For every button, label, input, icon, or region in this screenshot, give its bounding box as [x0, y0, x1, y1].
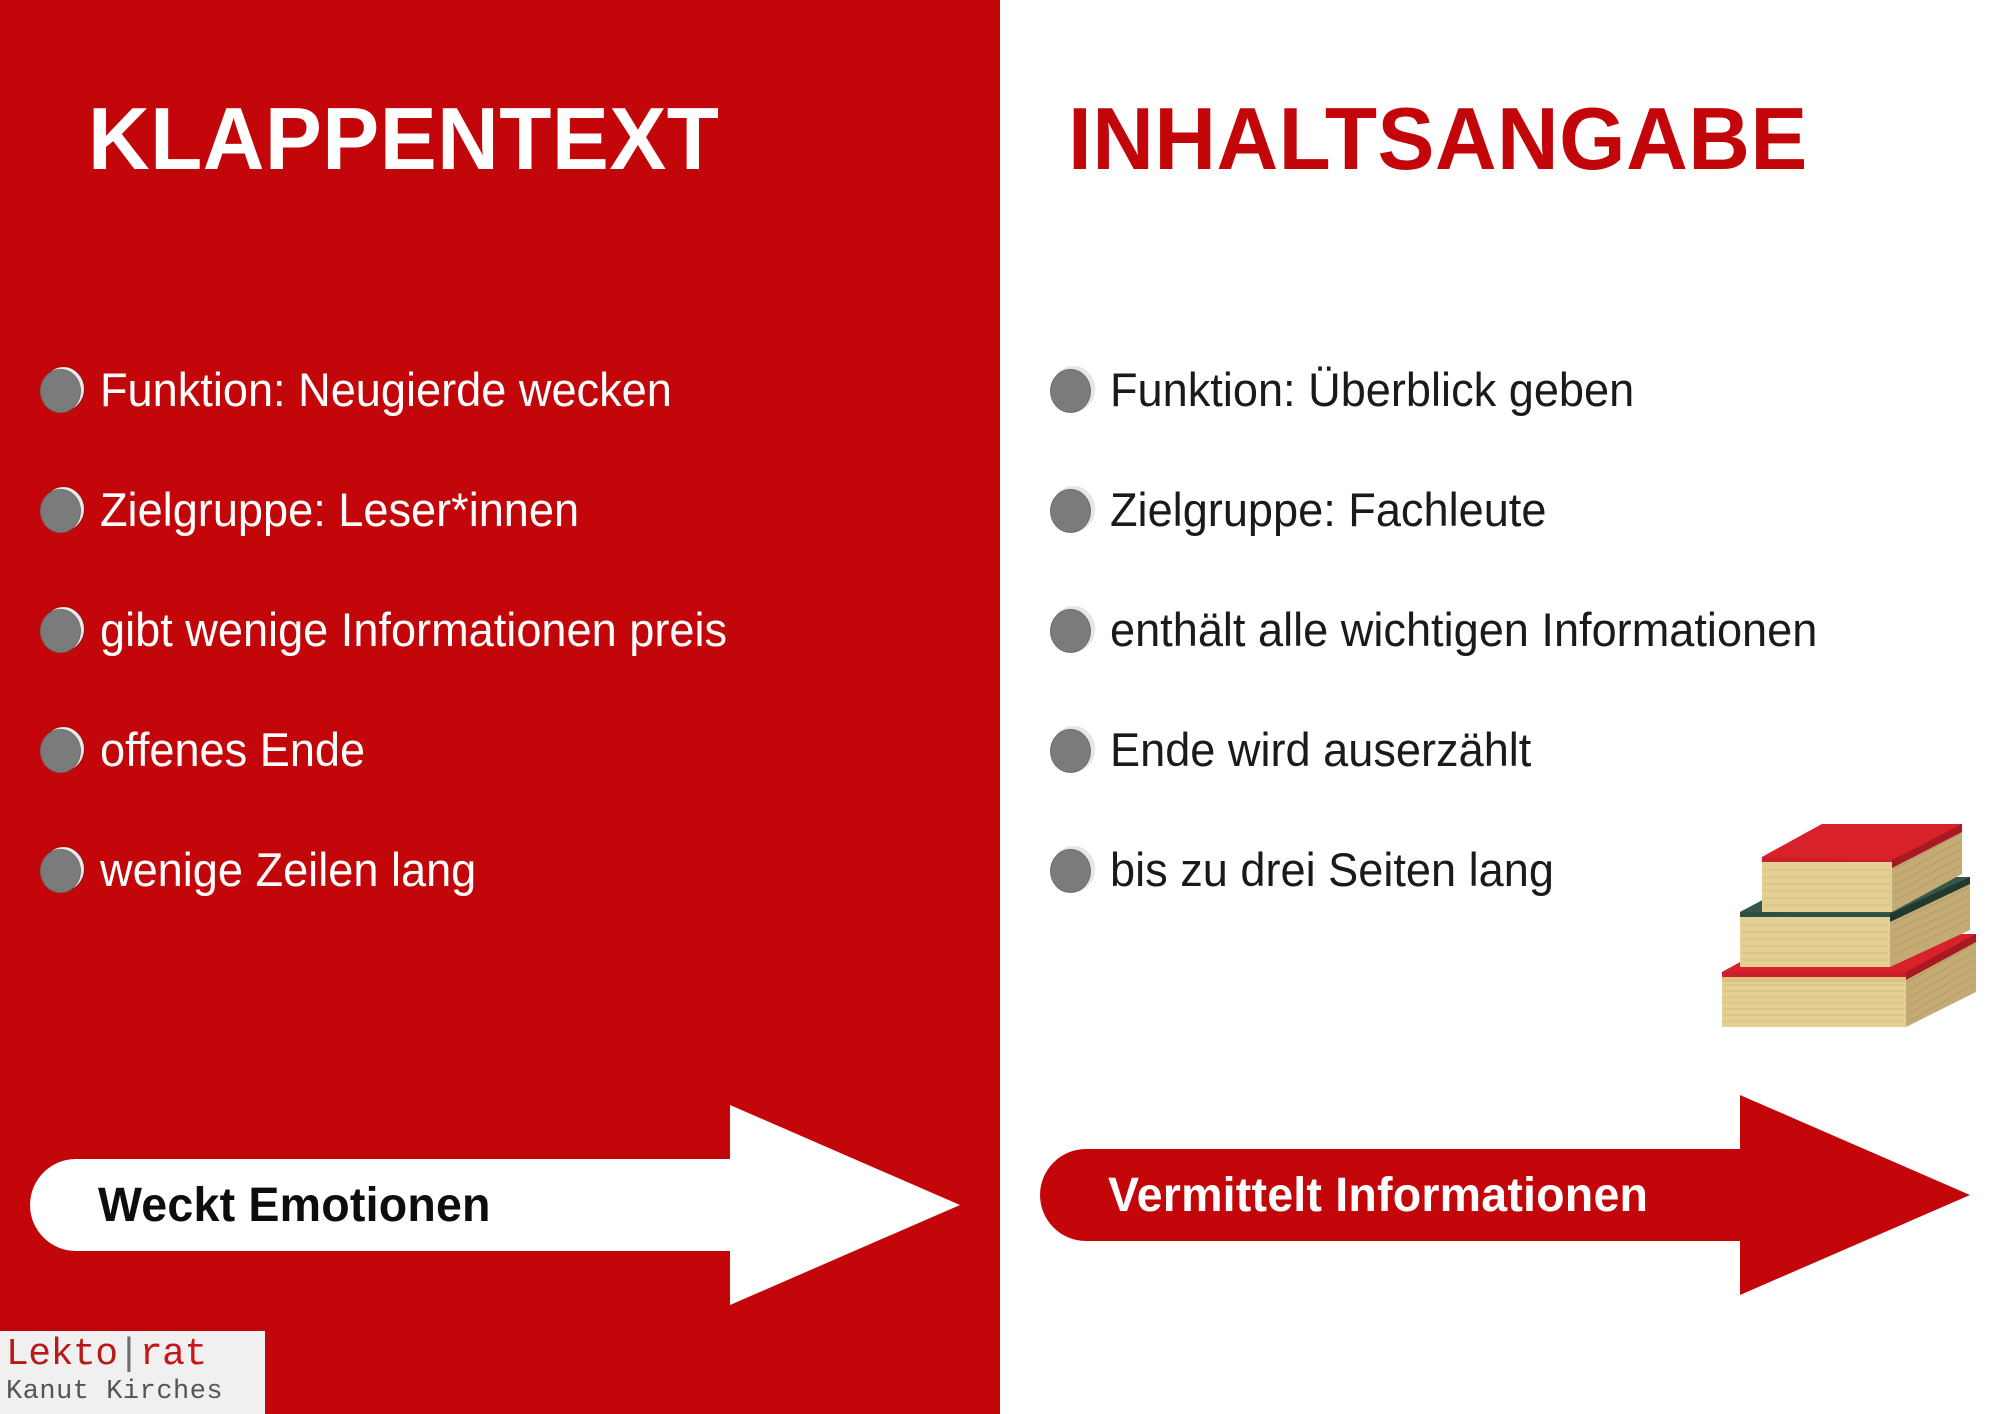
list-item: Ende wird auserzählt: [1050, 690, 1980, 810]
bullet-label: gibt wenige Informationen preis: [100, 605, 727, 654]
bullet-label: enthält alle wichtigen Informationen: [1110, 605, 1817, 654]
left-arrow-banner: Weckt Emotionen: [30, 1105, 960, 1305]
bullet-label: wenige Zeilen lang: [100, 845, 476, 894]
left-bullet-list: Funktion: Neugierde wecken Zielgruppe: L…: [40, 330, 920, 930]
bullet-circle-icon: [1050, 607, 1094, 653]
bullet-circle-icon: [40, 727, 84, 773]
list-item: Funktion: Neugierde wecken: [40, 330, 920, 450]
logo-separator: |: [118, 1333, 140, 1376]
infographic-canvas: KLAPPENTEXT INHALTSANGABE Funktion: Neug…: [0, 0, 2000, 1414]
logo-word-lekto: Lekto: [6, 1333, 118, 1376]
list-item: enthält alle wichtigen Informationen: [1050, 570, 1980, 690]
left-panel-title: KLAPPENTEXT: [88, 88, 719, 190]
bullet-label: bis zu drei Seiten lang: [1110, 845, 1554, 894]
right-arrow-banner: Vermittelt Informationen: [1040, 1095, 1970, 1295]
bullet-label: Zielgruppe: Leser*innen: [100, 485, 579, 534]
bullet-circle-icon: [40, 367, 84, 413]
list-item: wenige Zeilen lang: [40, 810, 920, 930]
right-arrow-label: Vermittelt Informationen: [1108, 1095, 1648, 1295]
bullet-circle-icon: [40, 607, 84, 653]
list-item: Zielgruppe: Leser*innen: [40, 450, 920, 570]
bullet-label: offenes Ende: [100, 725, 365, 774]
bullet-circle-icon: [40, 847, 84, 893]
bullet-label: Zielgruppe: Fachleute: [1110, 485, 1546, 534]
bullet-circle-icon: [1050, 487, 1094, 533]
left-arrow-label: Weckt Emotionen: [98, 1105, 491, 1305]
logo-wordmark: Lekto|rat: [6, 1334, 259, 1376]
logo[interactable]: Lekto|rat Kanut Kirches: [0, 1331, 265, 1414]
bullet-circle-icon: [1050, 847, 1094, 893]
bullet-circle-icon: [40, 487, 84, 533]
bullet-label: Ende wird auserzählt: [1110, 725, 1531, 774]
bullet-label: Funktion: Überblick geben: [1110, 365, 1634, 414]
list-item: Zielgruppe: Fachleute: [1050, 450, 1980, 570]
logo-subtitle: Kanut Kirches: [6, 1376, 259, 1408]
stack-of-books-icon: [1714, 822, 1984, 1032]
bullet-circle-icon: [1050, 727, 1094, 773]
list-item: offenes Ende: [40, 690, 920, 810]
logo-word-rat: rat: [140, 1333, 207, 1376]
bullet-circle-icon: [1050, 367, 1094, 413]
list-item: gibt wenige Informationen preis: [40, 570, 920, 690]
right-panel-title: INHALTSANGABE: [1068, 88, 1808, 190]
bullet-label: Funktion: Neugierde wecken: [100, 365, 672, 414]
list-item: Funktion: Überblick geben: [1050, 330, 1980, 450]
